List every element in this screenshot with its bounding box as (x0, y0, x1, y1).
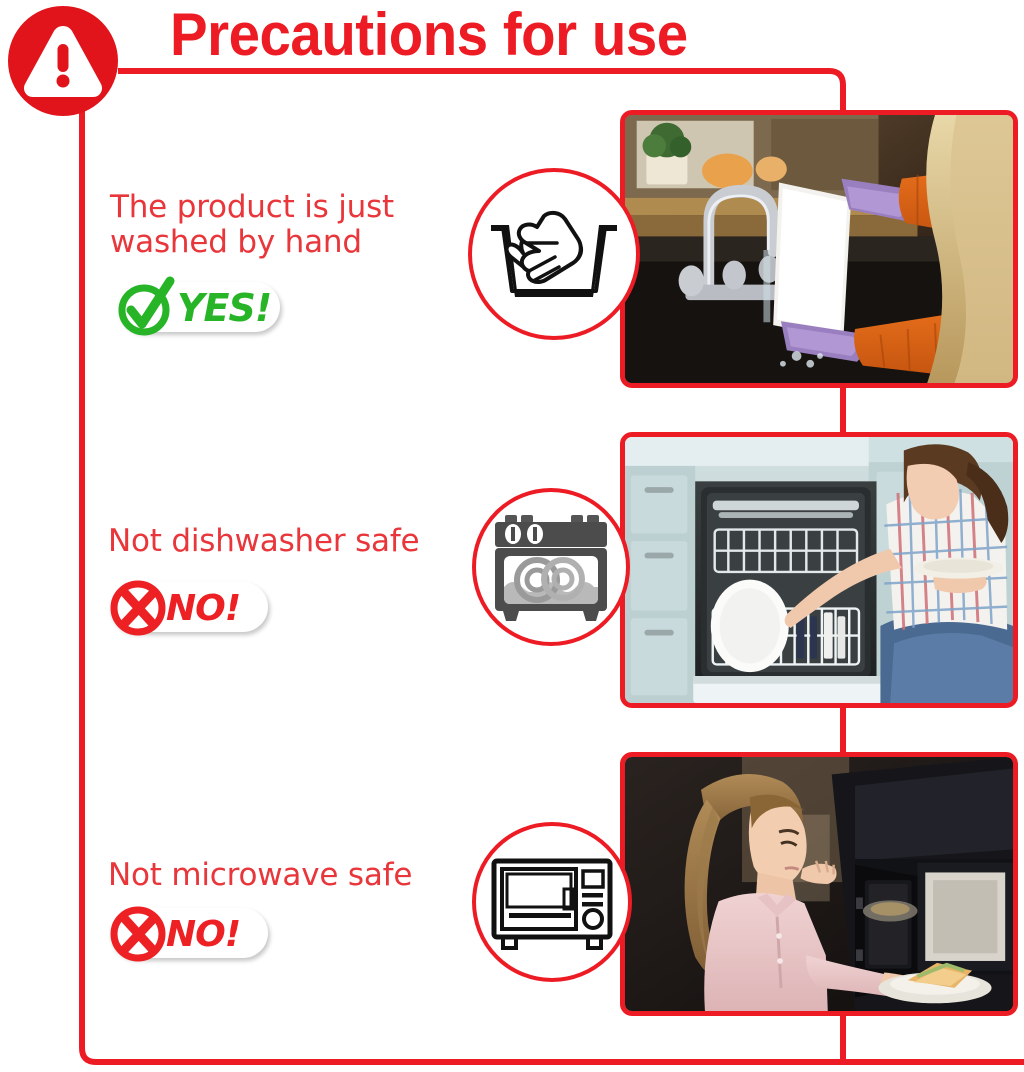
infographic-canvas: Precautions for use The product is just … (0, 0, 1024, 1072)
photo-microwave-loading (620, 752, 1018, 1016)
badge-yes-label: YES! (177, 286, 271, 330)
row-dishwasher-label: Not dishwasher safe (108, 524, 468, 559)
row-microwave-label: Not microwave safe (108, 858, 468, 893)
check-mark-icon (112, 274, 180, 342)
cross-mark-icon (104, 900, 172, 968)
dishwasher-icon-circle (472, 488, 630, 646)
badge-no-microwave: NO! (110, 908, 268, 958)
warning-badge (8, 6, 118, 116)
dishwasher-icon (485, 501, 617, 633)
photo-dishwasher-loading (620, 432, 1018, 708)
badge-no-label: NO! (166, 588, 240, 629)
badge-no-label: NO! (166, 914, 240, 955)
page-title: Precautions for use (170, 2, 790, 70)
microwave-icon-circle (472, 822, 632, 982)
microwave-icon (485, 835, 619, 969)
badge-no-dishwasher: NO! (110, 582, 268, 632)
hand-wash-icon (479, 179, 629, 329)
warning-triangle-icon (21, 22, 105, 102)
hand-wash-icon-circle (468, 168, 640, 340)
row-hand-wash-label: The product is just washed by hand (110, 190, 440, 260)
badge-yes: YES! (118, 282, 280, 332)
cross-mark-icon (104, 574, 172, 642)
photo-hand-washing (620, 110, 1018, 388)
